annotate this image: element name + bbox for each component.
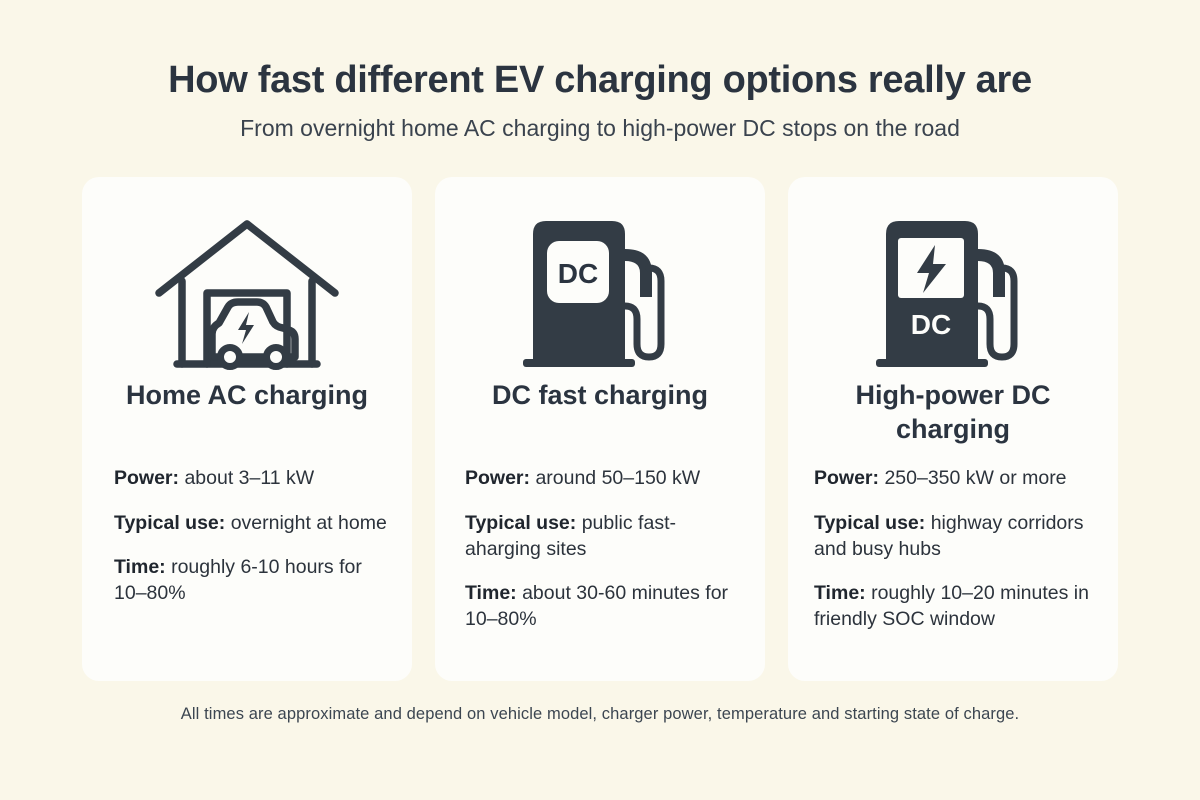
- home-garage-ev-icon: [149, 203, 345, 379]
- spec-value: overnight at home: [231, 512, 387, 534]
- spec-label: Power:: [465, 467, 530, 489]
- card-home-ac-charging: Home AC charging Power: about 3–11 kW Ty…: [82, 177, 412, 681]
- spec-label: Power:: [814, 467, 879, 489]
- spec-typical-use: Typical use: public fast-aharging sites: [465, 510, 743, 562]
- header: How fast different EV charging options r…: [0, 0, 1200, 142]
- spec-label: Time:: [465, 582, 517, 604]
- page-title: How fast different EV charging options r…: [0, 58, 1200, 103]
- spec-time: Time: roughly 10–20 minutes in friendly …: [814, 580, 1092, 632]
- card-dc-fast-charging: DC DC fast charging Power: around 50–150…: [435, 177, 765, 681]
- card-high-power-dc-charging: DC High-power DC charging Power: 250–350…: [788, 177, 1118, 681]
- high-power-dc-charger-icon: DC: [869, 203, 1037, 379]
- icon-screen-label: DC: [558, 258, 598, 289]
- card-specs: Power: about 3–11 kW Typical use: overni…: [108, 465, 392, 606]
- spec-label: Typical use:: [465, 512, 576, 534]
- footnote: All times are approximate and depend on …: [181, 705, 1019, 724]
- spec-value: around 50–150 kW: [535, 467, 700, 489]
- spec-label: Time:: [114, 556, 166, 578]
- card-specs: Power: 250–350 kW or more Typical use: h…: [814, 465, 1092, 632]
- spec-label: Power:: [114, 467, 179, 489]
- spec-power: Power: about 3–11 kW: [114, 465, 392, 491]
- spec-typical-use: Typical use: highway corridors and busy …: [814, 510, 1092, 562]
- card-specs: Power: around 50–150 kW Typical use: pub…: [461, 465, 743, 632]
- spec-typical-use: Typical use: overnight at home: [114, 510, 392, 536]
- card-heading: Home AC charging: [126, 379, 368, 449]
- icon-body-label: DC: [911, 309, 951, 340]
- page-subtitle: From overnight home AC charging to high-…: [0, 115, 1200, 143]
- spec-power: Power: 250–350 kW or more: [814, 465, 1092, 491]
- spec-value: about 3–11 kW: [184, 467, 314, 489]
- card-heading: High-power DC charging: [814, 379, 1092, 449]
- spec-time: Time: about 30-60 minutes for 10–80%: [465, 580, 743, 632]
- spec-label: Time:: [814, 582, 866, 604]
- spec-time: Time: roughly 6-10 hours for 10–80%: [114, 554, 392, 606]
- spec-label: Typical use:: [814, 512, 925, 534]
- cards-row: Home AC charging Power: about 3–11 kW Ty…: [82, 177, 1118, 681]
- card-heading: DC fast charging: [492, 379, 708, 449]
- dc-charger-icon: DC: [516, 203, 684, 379]
- infographic-page: How fast different EV charging options r…: [0, 0, 1200, 800]
- spec-label: Typical use:: [114, 512, 225, 534]
- spec-value: 250–350 kW or more: [884, 467, 1066, 489]
- spec-power: Power: around 50–150 kW: [465, 465, 743, 491]
